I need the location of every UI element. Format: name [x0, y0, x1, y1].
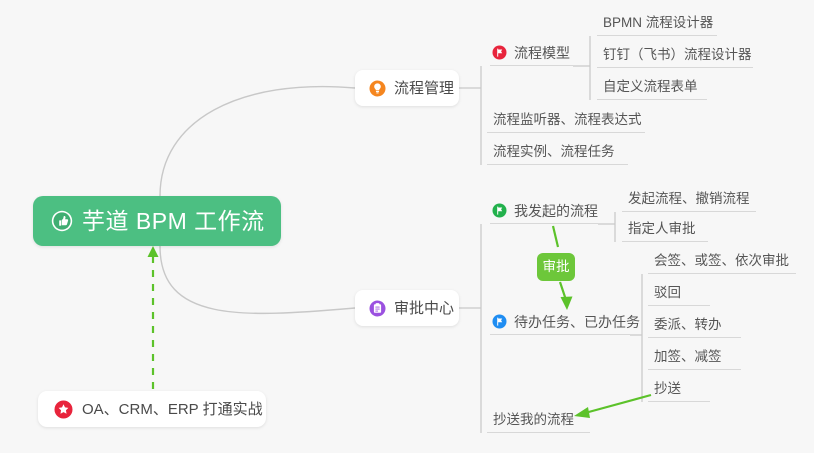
leaf-node-assignee-approval[interactable]: 指定人审批 [622, 216, 708, 242]
leaf-label-dingtalk-designer: 钉钉（飞书）流程设计器 [603, 48, 752, 62]
dashed-arrow-note-to-root [148, 246, 159, 389]
note-card-integration[interactable]: OA、CRM、ERP 打通实战 [38, 391, 266, 427]
sub-label-process-model: 流程模型 [514, 46, 570, 60]
leaf-node-dingtalk-designer[interactable]: 钉钉（飞书）流程设计器 [597, 42, 753, 68]
leaf-node-carbon-copy[interactable]: 抄送 [648, 376, 710, 402]
leaf-node-process-listener[interactable]: 流程监听器、流程表达式 [487, 107, 645, 133]
connector-root-to-approval-center [160, 246, 355, 313]
approval-badge-label: 审批 [543, 260, 570, 274]
lightbulb-icon [369, 80, 386, 97]
approval-badge[interactable]: 审批 [537, 253, 575, 281]
leaf-label-bpmn-designer: BPMN 流程设计器 [603, 16, 713, 30]
sub-node-todo-done-tasks[interactable]: 待办任务、已办任务 [490, 309, 630, 335]
note-card-label: OA、CRM、ERP 打通实战 [82, 402, 263, 417]
connector-root-to-process-management [160, 87, 355, 196]
leaf-node-start-cancel-process[interactable]: 发起流程、撤销流程 [622, 186, 756, 212]
sub-node-my-initiated[interactable]: 我发起的流程 [490, 198, 598, 224]
leaf-label-add-remove-sign: 加签、减签 [654, 350, 722, 364]
clipboard-icon [369, 300, 386, 317]
leaf-node-bpmn-designer[interactable]: BPMN 流程设计器 [597, 10, 717, 36]
leaf-label-delegate-transfer: 委派、转办 [654, 318, 722, 332]
branch-label-process-management: 流程管理 [394, 81, 454, 96]
sub-label-my-initiated: 我发起的流程 [514, 204, 598, 218]
leaf-node-delegate-transfer[interactable]: 委派、转办 [648, 312, 741, 338]
sub-node-process-model[interactable]: 流程模型 [490, 40, 573, 66]
flag-icon [492, 203, 507, 218]
leaf-node-custom-form[interactable]: 自定义流程表单 [597, 74, 707, 100]
root-node[interactable]: 芋道 BPM 工作流 [33, 196, 281, 246]
leaf-node-add-remove-sign[interactable]: 加签、减签 [648, 344, 741, 370]
branch-node-process-management[interactable]: 流程管理 [355, 70, 459, 106]
leaf-label-process-instance: 流程实例、流程任务 [493, 145, 615, 159]
leaf-label-process-listener: 流程监听器、流程表达式 [493, 113, 642, 127]
leaf-label-reject: 驳回 [654, 286, 681, 300]
leaf-label-custom-form: 自定义流程表单 [603, 80, 698, 94]
flag-icon [492, 314, 507, 329]
leaf-node-reject[interactable]: 驳回 [648, 280, 710, 306]
leaf-label-carbon-copy: 抄送 [654, 382, 681, 396]
mindmap-canvas: 芋道 BPM 工作流 流程管理 流程模型 BPMN 流程设计器 钉钉（飞书）流程… [0, 0, 814, 453]
leaf-node-countersign[interactable]: 会签、或签、依次审批 [648, 248, 796, 274]
star-icon [54, 400, 73, 419]
flag-icon [492, 45, 507, 60]
root-label: 芋道 BPM 工作流 [82, 210, 265, 233]
leaf-label-countersign: 会签、或签、依次审批 [654, 254, 789, 268]
leaf-node-cc-my-process[interactable]: 抄送我的流程 [487, 407, 590, 433]
branch-label-approval-center: 审批中心 [394, 301, 454, 316]
thumbs-up-icon [51, 210, 73, 232]
leaf-label-start-cancel-process: 发起流程、撤销流程 [628, 192, 750, 206]
sub-label-todo-done-tasks: 待办任务、已办任务 [514, 315, 640, 329]
leaf-label-assignee-approval: 指定人审批 [628, 222, 696, 236]
leaf-label-cc-my-process: 抄送我的流程 [493, 413, 574, 427]
branch-node-approval-center[interactable]: 审批中心 [355, 290, 459, 326]
leaf-node-process-instance[interactable]: 流程实例、流程任务 [487, 139, 628, 165]
